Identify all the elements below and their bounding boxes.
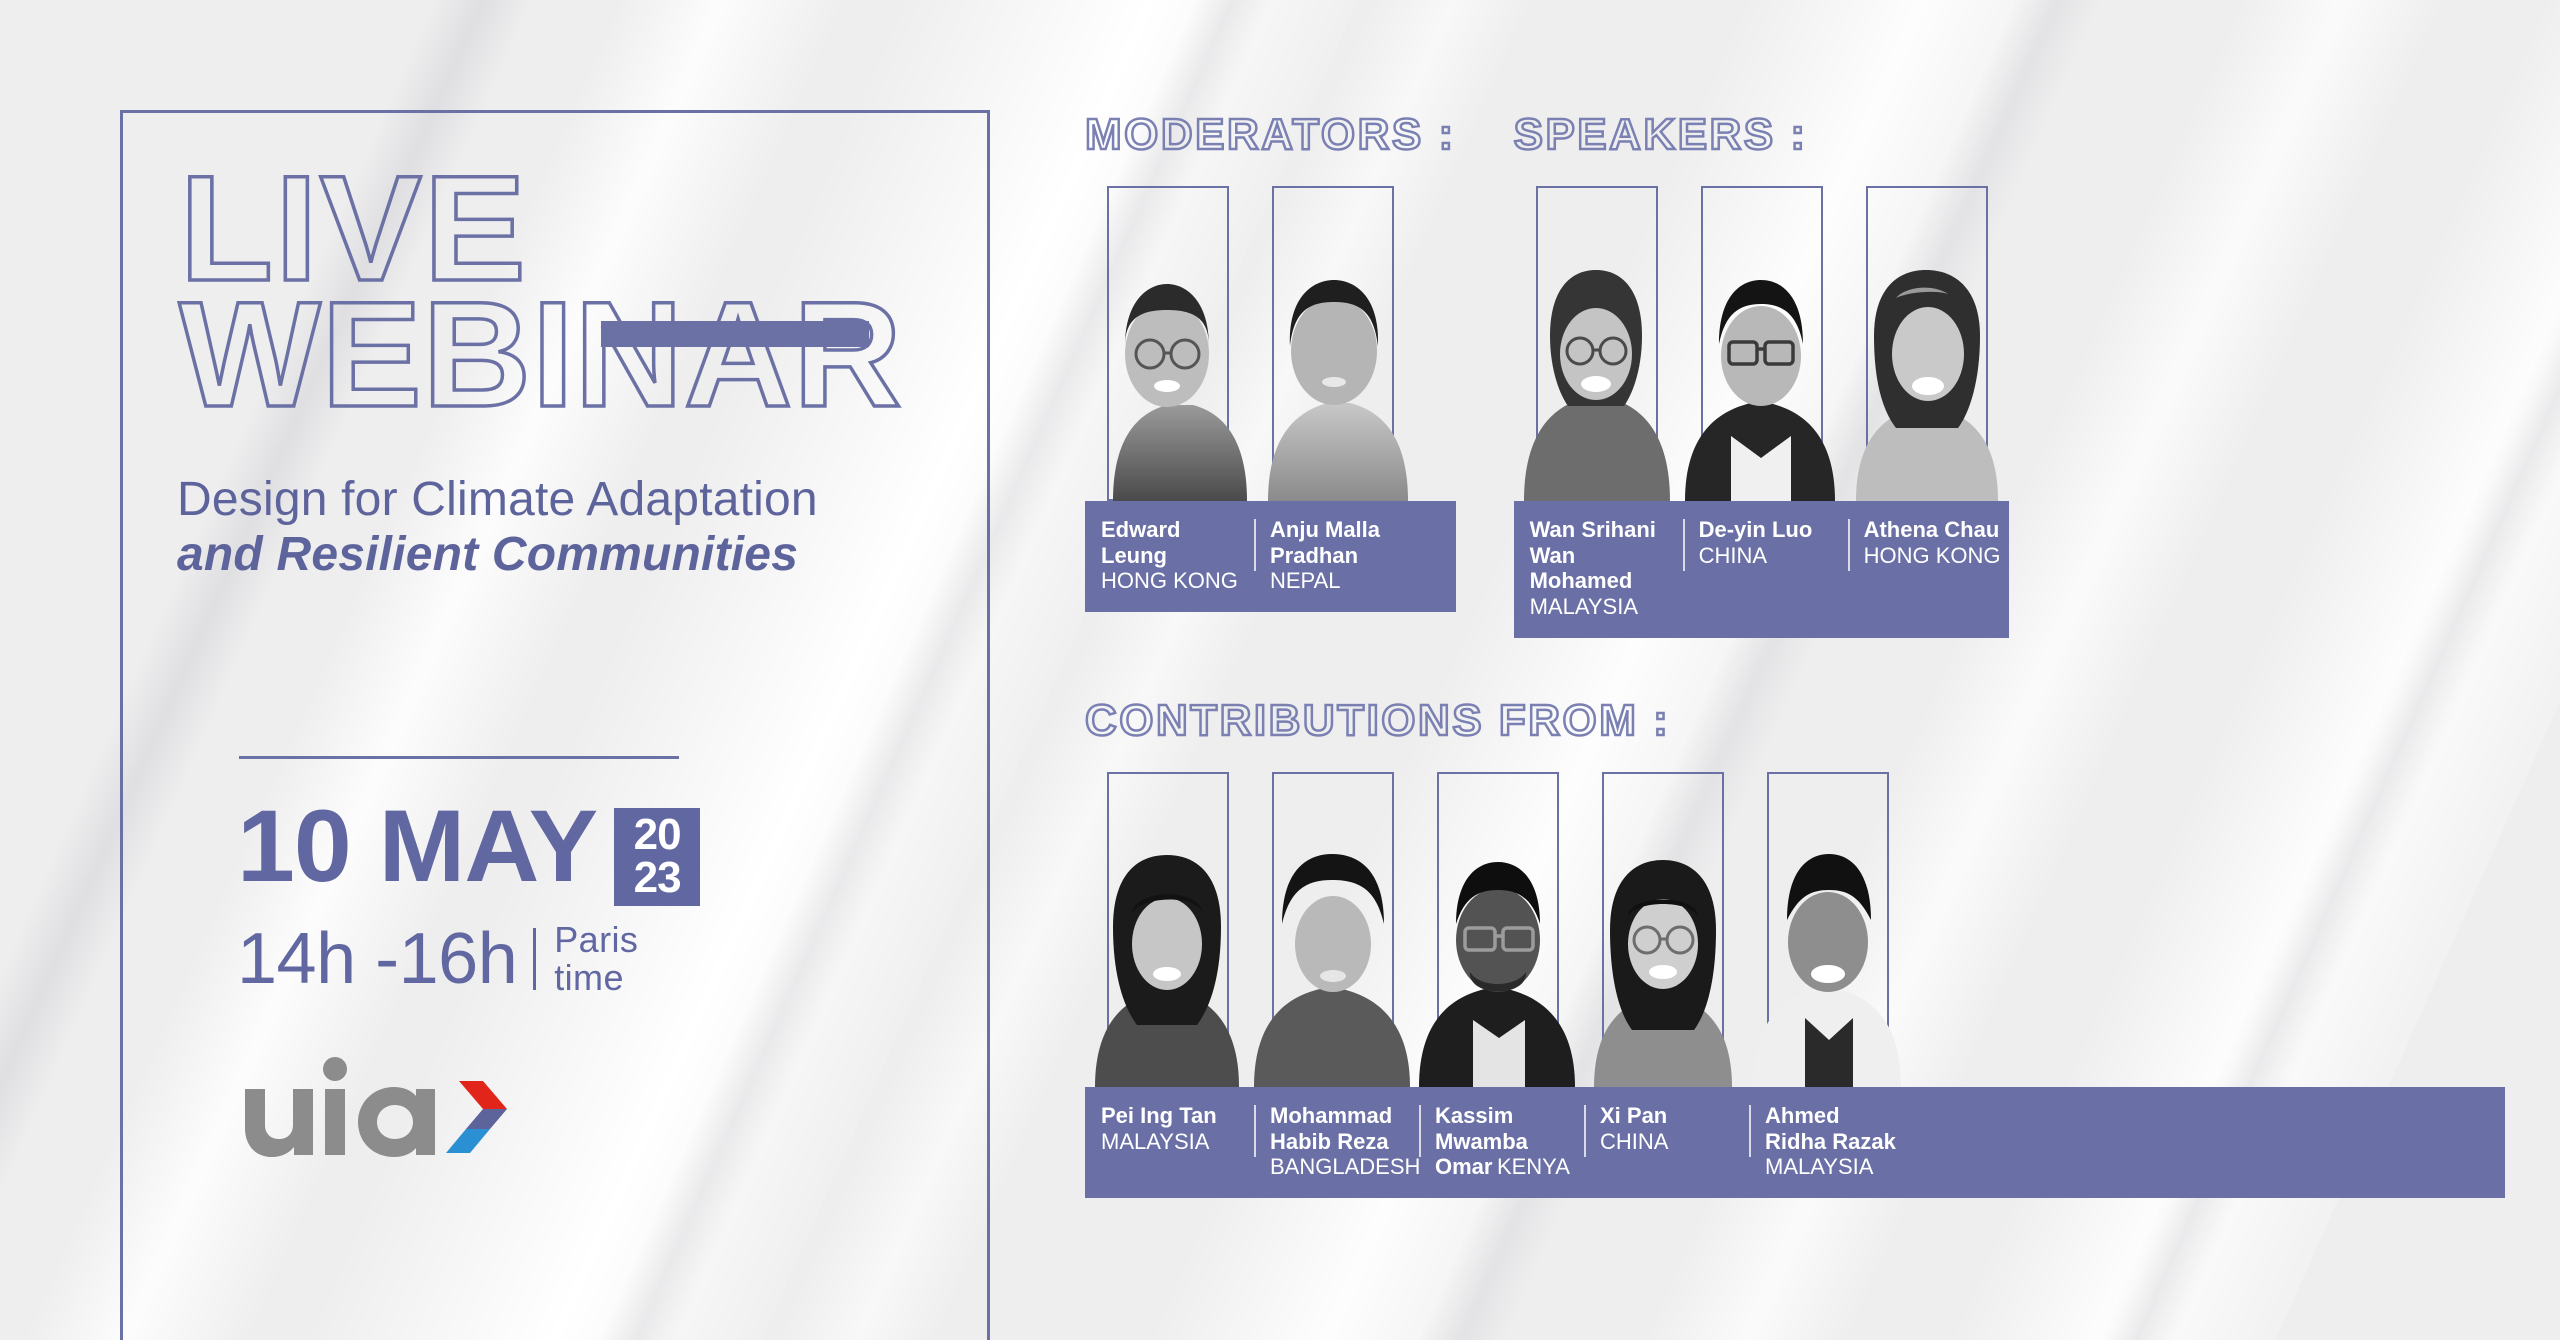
person-name: Xi Pan (1600, 1103, 1739, 1129)
timezone-line-2: time (554, 959, 638, 997)
moderator-cards (1085, 186, 1456, 501)
person-country: MALAYSIA (1101, 1129, 1244, 1155)
person-card[interactable] (1085, 186, 1250, 501)
person-label: Athena Chau HONG KONG (1844, 517, 2009, 620)
top-groups-row: MODERATORS : (1085, 110, 2505, 638)
person-card[interactable] (1745, 772, 1910, 1087)
person-name: Athena Chau (1864, 517, 2003, 543)
portrait-anju-malla-pradhan (1250, 186, 1415, 501)
person-country: CHINA (1699, 543, 1838, 569)
person-label: De-yin Luo CHINA (1679, 517, 1844, 620)
person-name: Ahmed Ridha Razak (1765, 1103, 1896, 1154)
heading-moderators: MODERATORS : (1085, 110, 1456, 160)
person-name: Anju Malla Pradhan (1270, 517, 1409, 568)
person-name: Mohammad Habib Reza (1270, 1103, 1392, 1154)
person-card[interactable] (1679, 186, 1844, 501)
event-date: 10 MAY (237, 798, 597, 895)
person-country: BANGLADESH (1270, 1154, 1420, 1179)
subtitle-line-1: Design for Climate Adaptation (177, 473, 967, 528)
group-speakers: SPEAKERS : (1514, 110, 2009, 638)
person-name: De-yin Luo (1699, 517, 1838, 543)
person-card[interactable] (1415, 772, 1580, 1087)
uia-logo (237, 1053, 537, 1163)
portrait-kassim-mwamba-omar (1415, 772, 1580, 1087)
person-label: Wan Srihani Wan Mohamed MALAYSIA (1514, 517, 1679, 620)
section-gap (1085, 638, 2505, 696)
group-contributions: CONTRIBUTIONS FROM : (1085, 696, 2505, 1198)
speaker-name-band: Wan Srihani Wan Mohamed MALAYSIA De-yin … (1514, 501, 2009, 638)
person-country: MALAYSIA (1530, 594, 1638, 619)
event-time: 14h -16h (237, 923, 517, 995)
subtitle-line-2: and Resilient Communities (177, 528, 967, 583)
time-separator (533, 928, 536, 990)
portrait-athena-chau (1844, 186, 2009, 501)
event-timezone: Paris time (554, 921, 638, 997)
moderator-name-band: Edward Leung HONG KONG Anju Malla Pradha… (1085, 501, 1456, 612)
person-label: Mohammad Habib Reza BANGLADESH (1250, 1103, 1415, 1180)
person-country: CHINA (1600, 1129, 1739, 1155)
event-time-row: 14h -16h Paris time (237, 921, 638, 997)
group-moderators: MODERATORS : (1085, 110, 1456, 612)
portrait-edward-leung (1085, 186, 1250, 501)
timezone-line-1: Paris (554, 921, 638, 959)
person-country: MALAYSIA (1765, 1154, 1873, 1179)
person-card[interactable] (1250, 186, 1415, 501)
portrait-de-yin-luo (1679, 186, 1844, 501)
contribution-cards (1085, 772, 2505, 1087)
portrait-mohammad-habib-reza (1250, 772, 1415, 1087)
portrait-ahmed-ridha-razak (1745, 772, 1910, 1087)
person-card[interactable] (1580, 772, 1745, 1087)
people-region: MODERATORS : (1085, 110, 2505, 1198)
person-label: Ahmed Ridha Razak MALAYSIA (1745, 1103, 1910, 1180)
heading-contributions: CONTRIBUTIONS FROM : (1085, 696, 2505, 746)
person-country: HONG KONG (1864, 543, 2003, 569)
person-card[interactable] (1250, 772, 1415, 1087)
portrait-wan-srihani-wan-mohamed (1514, 186, 1679, 501)
year-badge: 20 23 (614, 808, 700, 906)
person-country: NEPAL (1270, 568, 1409, 594)
person-card[interactable] (1844, 186, 2009, 501)
person-label: Kassim Mwamba Omar KENYA (1415, 1103, 1580, 1180)
heading-speakers: SPEAKERS : (1514, 110, 2009, 160)
word-webinar: WEBINAR (179, 285, 903, 423)
hero-panel: LIVE WEBINAR Design for Climate Adaptati… (120, 110, 990, 1340)
person-country: KENYA (1497, 1154, 1570, 1179)
person-name: Wan Srihani Wan Mohamed (1530, 517, 1656, 593)
webinar-subtitle: Design for Climate Adaptation and Resili… (177, 473, 967, 582)
contribution-name-band: Pei Ing Tan MALAYSIA Mohammad Habib Reza… (1085, 1087, 2505, 1198)
person-label: Anju Malla Pradhan NEPAL (1250, 517, 1415, 594)
person-card[interactable] (1514, 186, 1679, 501)
year-bottom: 23 (634, 857, 681, 900)
person-name: Edward Leung (1101, 517, 1244, 568)
event-date-row: 10 MAY 20 23 (237, 798, 700, 906)
person-card[interactable] (1085, 772, 1250, 1087)
person-country: HONG KONG (1101, 568, 1244, 594)
person-label: Edward Leung HONG KONG (1085, 517, 1250, 594)
hero-divider (239, 756, 679, 759)
portrait-xi-pan (1580, 772, 1745, 1087)
hero-content: LIVE WEBINAR Design for Climate Adaptati… (183, 173, 943, 303)
person-name: Pei Ing Tan (1101, 1103, 1244, 1129)
year-top: 20 (634, 814, 681, 857)
person-label: Pei Ing Tan MALAYSIA (1085, 1103, 1250, 1180)
speaker-cards (1514, 186, 2009, 501)
person-label: Xi Pan CHINA (1580, 1103, 1745, 1180)
portrait-pei-ing-tan (1085, 772, 1250, 1087)
